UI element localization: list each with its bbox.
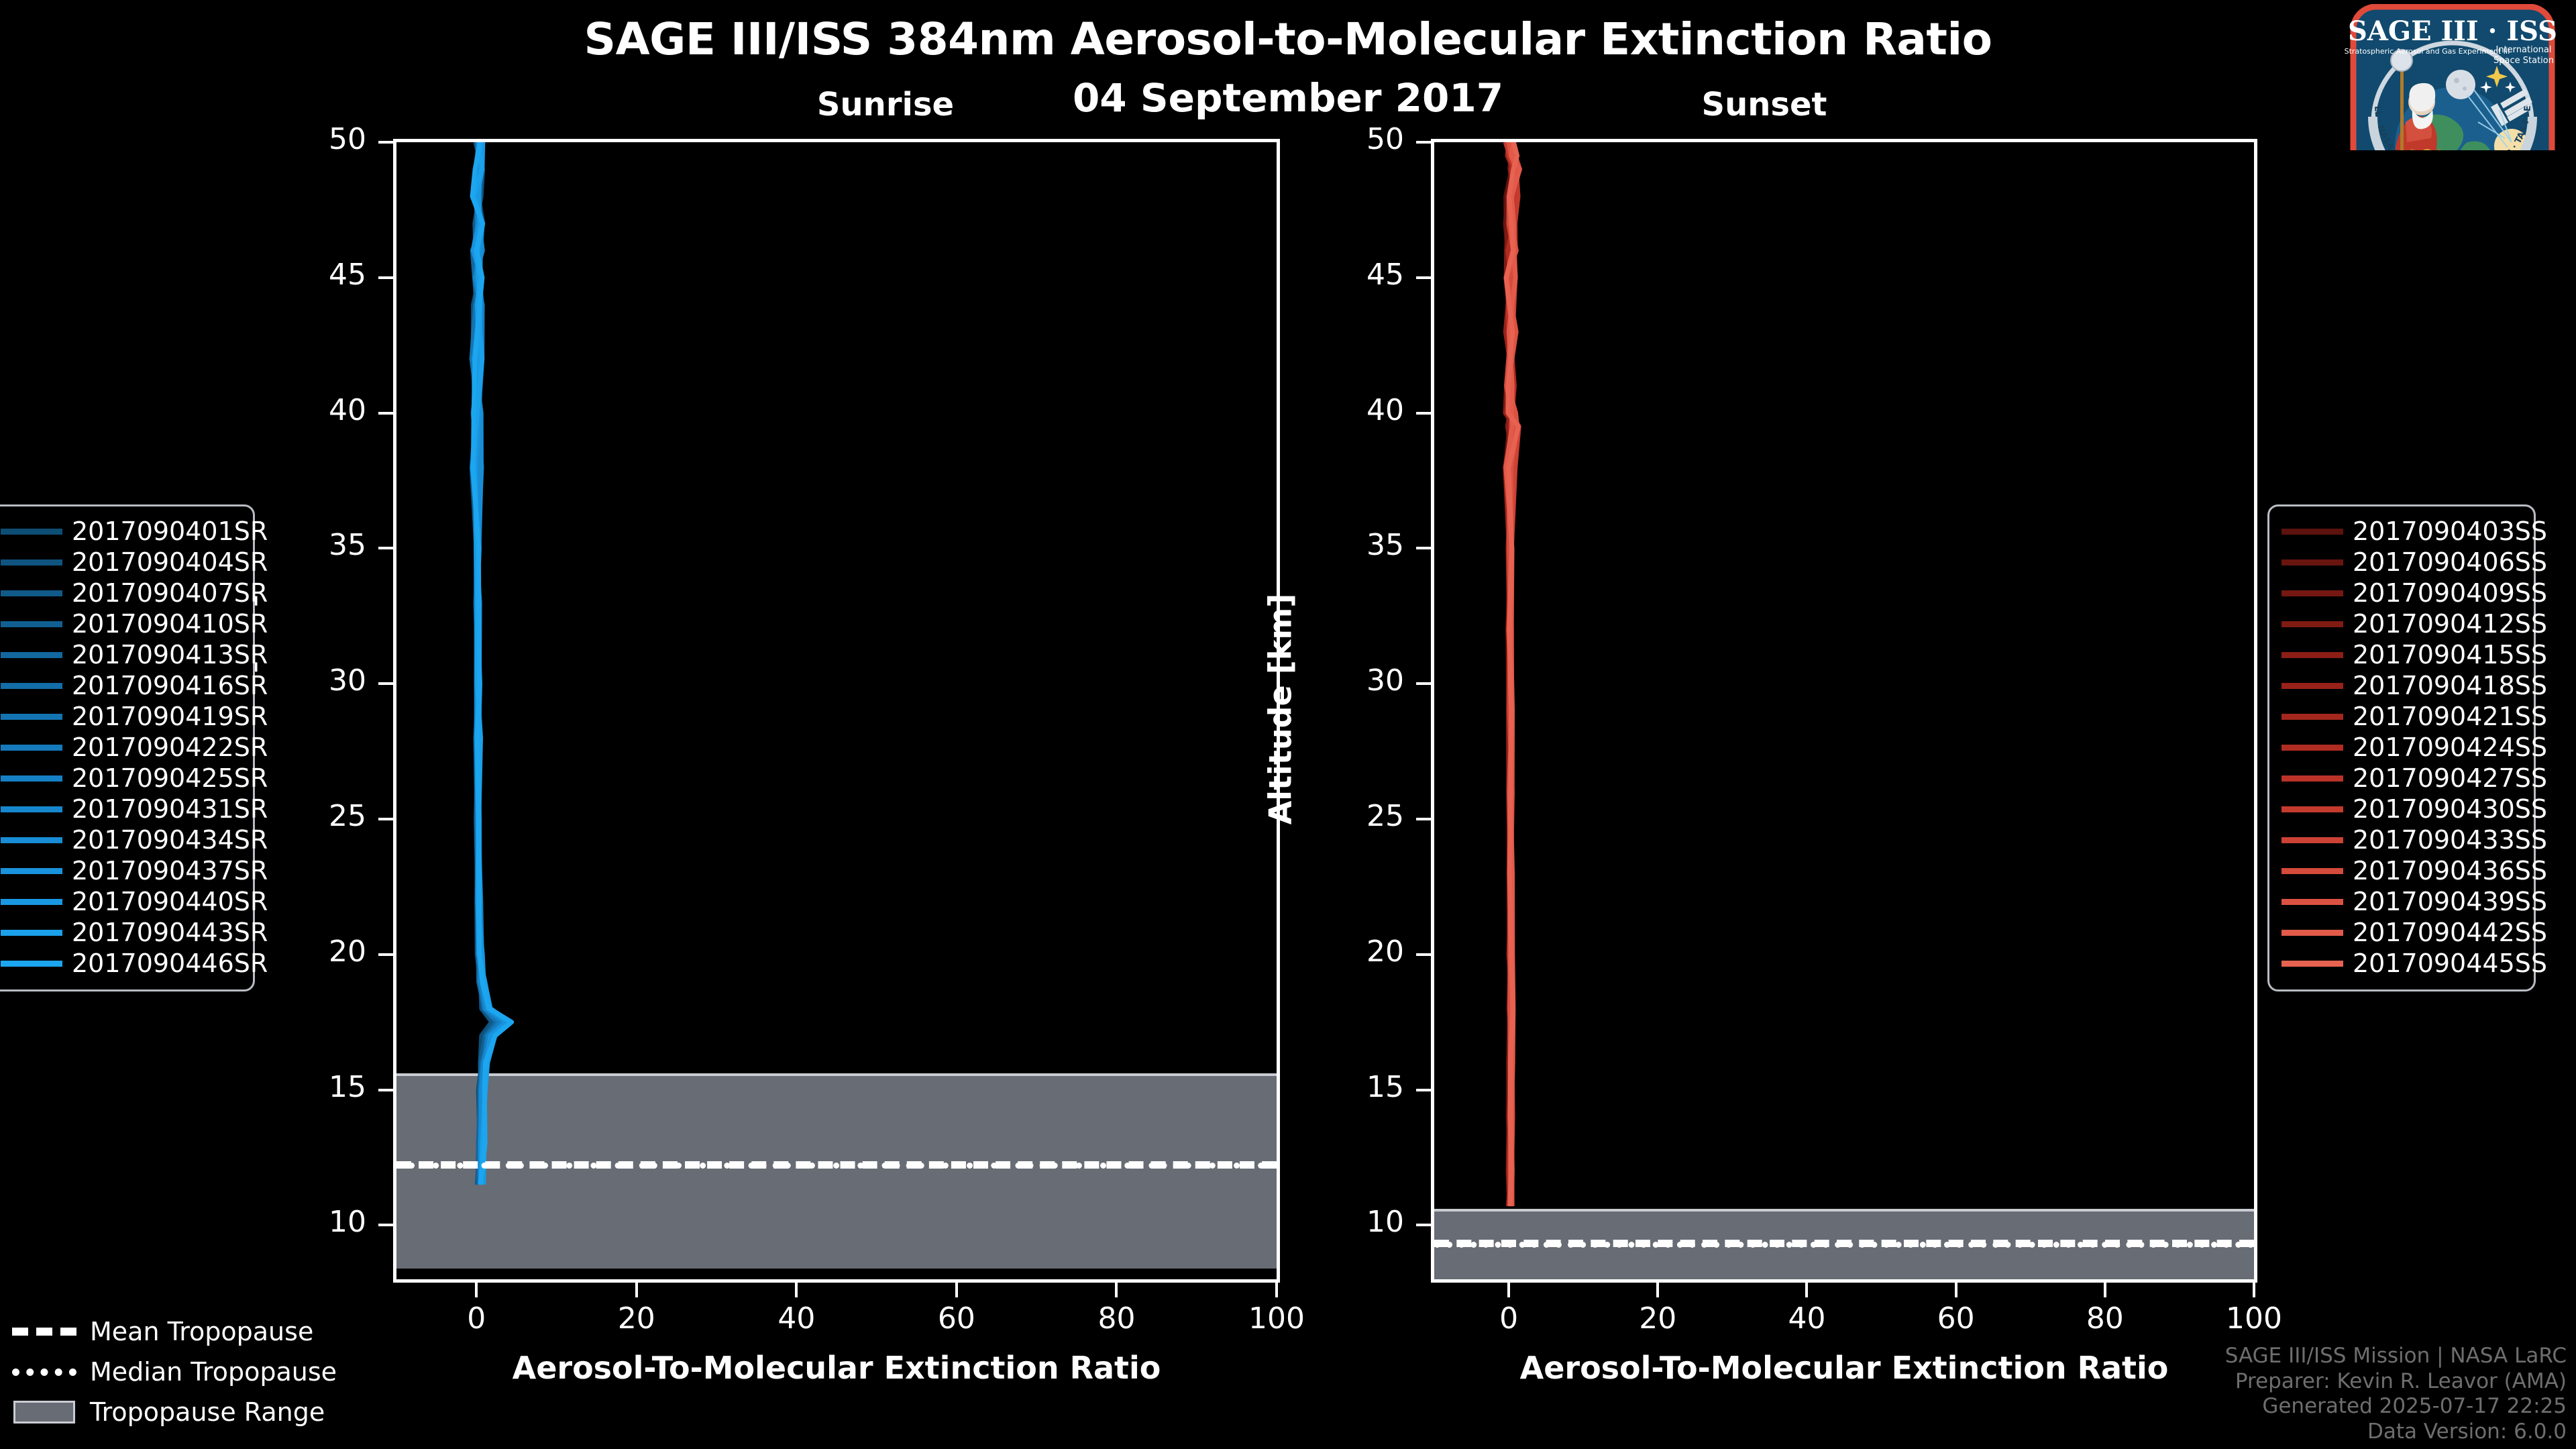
color-swatch-icon (2282, 868, 2343, 874)
sunset-y-tick-mark (1416, 818, 1431, 820)
sunrise-event-legend-label: 2017090404SR (72, 547, 268, 577)
sage-iii-iss-logo: SAGE III · ISS Stratospheric Aerosol and… (2336, 4, 2569, 150)
sunset-y-tick-label: 15 (1303, 1070, 1404, 1104)
sunset-event-legend-item[interactable]: 2017090406SS (2282, 547, 2522, 578)
sunrise-plot-area (393, 139, 1280, 1283)
sunset-y-tick-label: 40 (1303, 393, 1404, 427)
sunset-event-legend-label: 2017090430SS (2353, 794, 2547, 824)
sunrise-event-legend-label: 2017090434SR (72, 825, 268, 855)
logo-subtitle-left: Stratospheric Aerosol and Gas Experiment… (2345, 47, 2510, 56)
sunrise-x-tick-mark (475, 1283, 478, 1297)
sunrise-y-tick-mark (378, 818, 393, 820)
color-swatch-icon (2282, 837, 2343, 843)
color-swatch-icon (2282, 745, 2343, 751)
sunrise-event-legend-item[interactable]: 2017090443SR (1, 917, 241, 948)
color-swatch-icon (1, 806, 62, 812)
legend-label-tropopause-range: Tropopause Range (90, 1397, 325, 1427)
sunset-event-legend-label: 2017090403SS (2353, 517, 2547, 546)
legend-label-mean-tropopause: Mean Tropopause (90, 1317, 313, 1346)
sunrise-event-legend-item[interactable]: 2017090422SR (1, 732, 241, 763)
color-swatch-icon (1, 837, 62, 843)
sunset-event-legend-label: 2017090418SS (2353, 671, 2547, 700)
color-swatch-icon (2282, 590, 2343, 596)
color-swatch-icon (1, 621, 62, 627)
sunset-y-tick-mark (1416, 682, 1431, 685)
sunrise-event-legend-item[interactable]: 2017090413SR (1, 639, 241, 670)
sunset-x-tick-label: 20 (1607, 1301, 1708, 1336)
figure-root: SAGE III/ISS 384nm Aerosol-to-Molecular … (0, 0, 2576, 1449)
color-swatch-icon (1, 529, 62, 535)
color-swatch-icon (2282, 714, 2343, 720)
sunset-event-legend-item[interactable]: 2017090421SS (2282, 701, 2522, 732)
sunrise-x-tick-label: 0 (426, 1301, 527, 1336)
sunset-y-tick-mark (1416, 1089, 1431, 1091)
sunset-x-tick-mark (1805, 1283, 1808, 1297)
credits-line-mission: SAGE III/ISS Mission | NASA LaRC (2225, 1344, 2567, 1369)
sunset-y-tick-label: 30 (1303, 663, 1404, 698)
sunset-event-legend-item[interactable]: 2017090436SS (2282, 855, 2522, 886)
tropopause-legend: Mean Tropopause Median Tropopause Tropop… (12, 1311, 361, 1432)
sunset-y-tick-label: 20 (1303, 934, 1404, 969)
color-swatch-icon (1, 714, 62, 720)
sunset-event-legend-item[interactable]: 2017090427SS (2282, 763, 2522, 794)
sunrise-event-legend-label: 2017090440SR (72, 887, 268, 916)
sunset-event-legend-label: 2017090424SS (2353, 733, 2547, 762)
sunrise-event-legend-label: 2017090419SR (72, 702, 268, 731)
sunrise-y-tick-label: 35 (266, 528, 366, 562)
logo-title: SAGE III · ISS (2348, 15, 2557, 47)
sunrise-event-legend-label: 2017090443SR (72, 918, 268, 947)
sunrise-event-legend-label: 2017090401SR (72, 517, 268, 546)
sunrise-x-tick-label: 20 (586, 1301, 687, 1336)
sunrise-event-legend-label: 2017090446SR (72, 949, 268, 978)
sunset-event-legend-item[interactable]: 2017090415SS (2282, 639, 2522, 670)
date-subtitle: 04 September 2017 (0, 75, 2576, 121)
sunset-y-tick-label: 10 (1303, 1205, 1404, 1239)
sunrise-y-tick-mark (378, 682, 393, 685)
sunrise-y-tick-label: 25 (266, 799, 366, 833)
sunset-event-legend-item[interactable]: 2017090409SS (2282, 578, 2522, 608)
color-swatch-icon (2282, 775, 2343, 782)
sunset-event-legend: 2017090403SS2017090406SS2017090409SS2017… (2267, 504, 2536, 991)
sunrise-event-legend-label: 2017090407SR (72, 578, 268, 608)
color-swatch-icon (1, 930, 62, 936)
sunset-x-tick-mark (1656, 1283, 1659, 1297)
color-swatch-icon (1, 590, 62, 596)
sunrise-x-tick-label: 60 (906, 1301, 1007, 1336)
credits-line-generated: Generated 2025-07-17 22:25 (2225, 1394, 2567, 1419)
sunset-x-tick-mark (1955, 1283, 1957, 1297)
sunrise-event-legend-item[interactable]: 2017090425SR (1, 763, 241, 794)
sunrise-x-tick-mark (635, 1283, 638, 1297)
sunset-x-tick-label: 60 (1906, 1301, 2006, 1336)
legend-label-median-tropopause: Median Tropopause (90, 1357, 337, 1387)
sunset-event-legend-label: 2017090439SS (2353, 887, 2547, 916)
sunrise-event-legend-label: 2017090413SR (72, 640, 268, 669)
sunrise-event-legend-item[interactable]: 2017090416SR (1, 670, 241, 701)
sunset-x-tick-label: 40 (1756, 1301, 1857, 1336)
sunset-event-legend-item[interactable]: 2017090439SS (2282, 886, 2522, 917)
sunrise-event-legend-item[interactable]: 2017090404SR (1, 547, 241, 578)
sunset-y-tick-label: 25 (1303, 799, 1404, 833)
sunset-plot-area (1431, 139, 2257, 1283)
color-swatch-icon (2282, 930, 2343, 936)
sunrise-y-tick-mark (378, 141, 393, 144)
sunrise-event-legend-label: 2017090422SR (72, 733, 268, 762)
color-swatch-icon (2282, 652, 2343, 658)
sunset-panel-title: Sunset (1597, 86, 1932, 123)
color-swatch-icon (2282, 529, 2343, 535)
sunset-event-legend-label: 2017090433SS (2353, 825, 2547, 855)
sunrise-y-tick-mark (378, 547, 393, 549)
sunrise-x-tick-mark (1115, 1283, 1118, 1297)
sunset-event-legend-item[interactable]: 2017090418SS (2282, 670, 2522, 701)
filled-box-icon (12, 1401, 76, 1424)
sunrise-y-tick-label: 40 (266, 393, 366, 427)
credits-block: SAGE III/ISS Mission | NASA LaRC Prepare… (2225, 1344, 2567, 1445)
sunset-event-legend-label: 2017090421SS (2353, 702, 2547, 731)
sunrise-x-tick-mark (955, 1283, 958, 1297)
sunset-y-tick-mark (1416, 276, 1431, 279)
sunset-y-tick-mark (1416, 141, 1431, 144)
sunrise-y-tick-mark (378, 276, 393, 279)
sunrise-event-legend: 2017090401SR2017090404SR2017090407SR2017… (0, 504, 255, 991)
sunset-plot-inner (1434, 142, 2254, 1279)
sunrise-event-legend-item[interactable]: 2017090437SR (1, 855, 241, 886)
color-swatch-icon (1, 775, 62, 782)
sunrise-event-legend-label: 2017090431SR (72, 794, 268, 824)
sunset-event-legend-item[interactable]: 2017090424SS (2282, 732, 2522, 763)
sunrise-x-tick-mark (795, 1283, 798, 1297)
sunset-curve-bundle (1434, 142, 2254, 1279)
sunset-y-tick-label: 45 (1303, 258, 1404, 292)
sunset-event-legend-label: 2017090445SS (2353, 949, 2547, 978)
sunrise-y-tick-mark (378, 412, 393, 415)
sunrise-event-legend-item[interactable]: 2017090407SR (1, 578, 241, 608)
color-swatch-icon (1, 652, 62, 658)
sunset-y-tick-mark (1416, 953, 1431, 956)
logo-subtitle-right-1: International (2496, 45, 2552, 55)
color-swatch-icon (2282, 899, 2343, 905)
sunrise-event-legend-label: 2017090416SR (72, 671, 268, 700)
sunrise-y-tick-mark (378, 1224, 393, 1226)
dotted-line-icon (12, 1368, 76, 1376)
dashed-line-icon (12, 1328, 76, 1336)
sunrise-event-legend-item[interactable]: 2017090410SR (1, 608, 241, 639)
sunrise-y-tick-mark (378, 953, 393, 956)
color-swatch-icon (1, 559, 62, 566)
sunrise-y-tick-label: 15 (266, 1070, 366, 1104)
sunset-x-tick-mark (2104, 1283, 2106, 1297)
legend-item-median-tropopause: Median Tropopause (12, 1352, 361, 1392)
page-title: SAGE III/ISS 384nm Aerosol-to-Molecular … (0, 13, 2576, 65)
color-swatch-icon (2282, 683, 2343, 689)
color-swatch-icon (1, 868, 62, 874)
median-tropopause-line (1434, 1242, 2254, 1248)
credits-line-preparer: Preparer: Kevin R. Leavor (AMA) (2225, 1369, 2567, 1395)
sunset-event-legend-item[interactable]: 2017090403SS (2282, 516, 2522, 547)
sunset-y-tick-mark (1416, 547, 1431, 549)
sunrise-y-tick-label: 10 (266, 1205, 366, 1239)
sunset-y-tick-label: 35 (1303, 528, 1404, 562)
color-swatch-icon (1, 745, 62, 751)
sunrise-event-legend-item[interactable]: 2017090440SR (1, 886, 241, 917)
sunset-y-tick-label: 50 (1303, 122, 1404, 156)
sunset-event-legend-item[interactable]: 2017090445SS (2282, 948, 2522, 979)
color-swatch-icon (1, 961, 62, 967)
sunset-event-legend-label: 2017090412SS (2353, 609, 2547, 639)
sunrise-event-legend-item[interactable]: 2017090446SR (1, 948, 241, 979)
sunset-y-axis-title: Altitude [km] (1262, 137, 1298, 1281)
sunset-y-tick-mark (1416, 412, 1431, 415)
sunrise-event-legend-label: 2017090437SR (72, 856, 268, 885)
sunrise-x-axis-title: Aerosol-To-Molecular Extinction Ratio (393, 1350, 1280, 1386)
sunset-event-legend-label: 2017090427SS (2353, 763, 2547, 793)
sunset-event-legend-label: 2017090406SS (2353, 547, 2547, 577)
sunrise-event-legend-item[interactable]: 2017090431SR (1, 794, 241, 824)
color-swatch-icon (2282, 961, 2343, 967)
sunrise-x-tick-label: 80 (1066, 1301, 1167, 1336)
sunrise-event-legend-item[interactable]: 2017090401SR (1, 516, 241, 547)
color-swatch-icon (2282, 806, 2343, 812)
sunset-x-tick-mark (1507, 1283, 1510, 1297)
sunset-x-tick-label: 0 (1458, 1301, 1559, 1336)
sunrise-x-tick-mark (1275, 1283, 1278, 1297)
color-swatch-icon (1, 899, 62, 905)
sunrise-y-tick-label: 30 (266, 663, 366, 698)
sunset-event-legend-label: 2017090442SS (2353, 918, 2547, 947)
sunrise-y-tick-mark (378, 1089, 393, 1091)
logo-subtitle-right-2: Space Station (2493, 56, 2554, 66)
sunset-event-legend-item[interactable]: 2017090430SS (2282, 794, 2522, 824)
legend-item-mean-tropopause: Mean Tropopause (12, 1311, 361, 1352)
sunset-event-legend-item[interactable]: 2017090412SS (2282, 608, 2522, 639)
sunrise-y-tick-label: 50 (266, 122, 366, 156)
sunset-y-tick-mark (1416, 1224, 1431, 1226)
legend-item-tropopause-range: Tropopause Range (12, 1392, 361, 1432)
sunrise-curve-bundle (396, 142, 1277, 1279)
sunrise-panel-title: Sunrise (718, 86, 1053, 123)
sunset-x-tick-label: 100 (2204, 1301, 2304, 1336)
sunrise-x-tick-label: 40 (746, 1301, 847, 1336)
sunrise-event-legend-label: 2017090425SR (72, 763, 268, 793)
sunset-event-legend-label: 2017090436SS (2353, 856, 2547, 885)
sunrise-event-legend-label: 2017090410SR (72, 609, 268, 639)
sunset-x-axis-title: Aerosol-To-Molecular Extinction Ratio (1431, 1350, 2257, 1386)
sunrise-plot-inner (396, 142, 1277, 1279)
sunset-event-legend-item[interactable]: 2017090442SS (2282, 917, 2522, 948)
sunrise-x-tick-label: 100 (1226, 1301, 1327, 1336)
sunset-x-tick-mark (2253, 1283, 2255, 1297)
sunset-x-tick-label: 80 (2055, 1301, 2155, 1336)
credits-line-version: Data Version: 6.0.0 (2225, 1419, 2567, 1445)
sunset-event-legend-label: 2017090415SS (2353, 640, 2547, 669)
color-swatch-icon (1, 683, 62, 689)
sunrise-event-legend-item[interactable]: 2017090434SR (1, 824, 241, 855)
sunset-event-legend-item[interactable]: 2017090433SS (2282, 824, 2522, 855)
sunrise-y-tick-label: 45 (266, 258, 366, 292)
median-tropopause-line (396, 1163, 1277, 1169)
sunset-event-legend-label: 2017090409SS (2353, 578, 2547, 608)
sunrise-y-tick-label: 20 (266, 934, 366, 969)
color-swatch-icon (2282, 559, 2343, 566)
sunrise-event-legend-item[interactable]: 2017090419SR (1, 701, 241, 732)
color-swatch-icon (2282, 621, 2343, 627)
